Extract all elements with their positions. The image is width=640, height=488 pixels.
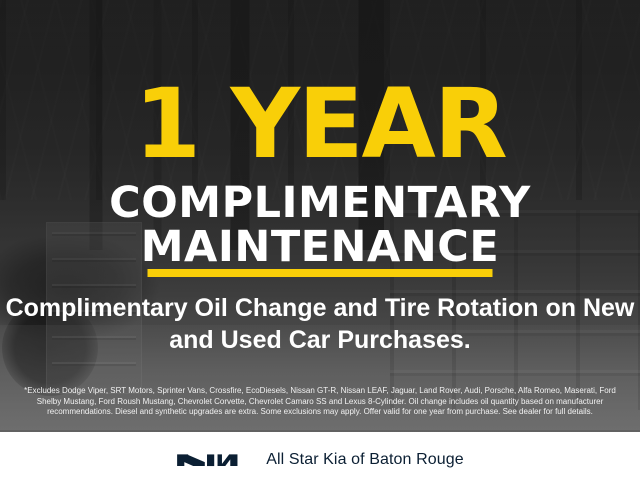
disclaimer-fine-print: *Excludes Dodge Viper, SRT Motors, Sprin…	[18, 386, 622, 418]
headline-year: 1 YEAR	[0, 76, 640, 172]
dealer-name: All Star Kia of Baton Rouge	[266, 451, 463, 469]
footer-bar: All Star Kia of Baton Rouge	[0, 432, 640, 488]
subheadline: Complimentary Oil Change and Tire Rotati…	[0, 292, 640, 356]
headline-maintenance: MAINTENANCE	[0, 226, 640, 269]
headline-complimentary: COMPLIMENTARY	[0, 182, 640, 225]
promo-banner: 1 YEAR COMPLIMENTARY MAINTENANCE Complim…	[0, 0, 640, 488]
banner-content: 1 YEAR COMPLIMENTARY MAINTENANCE Complim…	[0, 0, 640, 488]
kia-logo	[176, 450, 248, 470]
yellow-divider-bar	[148, 269, 493, 277]
